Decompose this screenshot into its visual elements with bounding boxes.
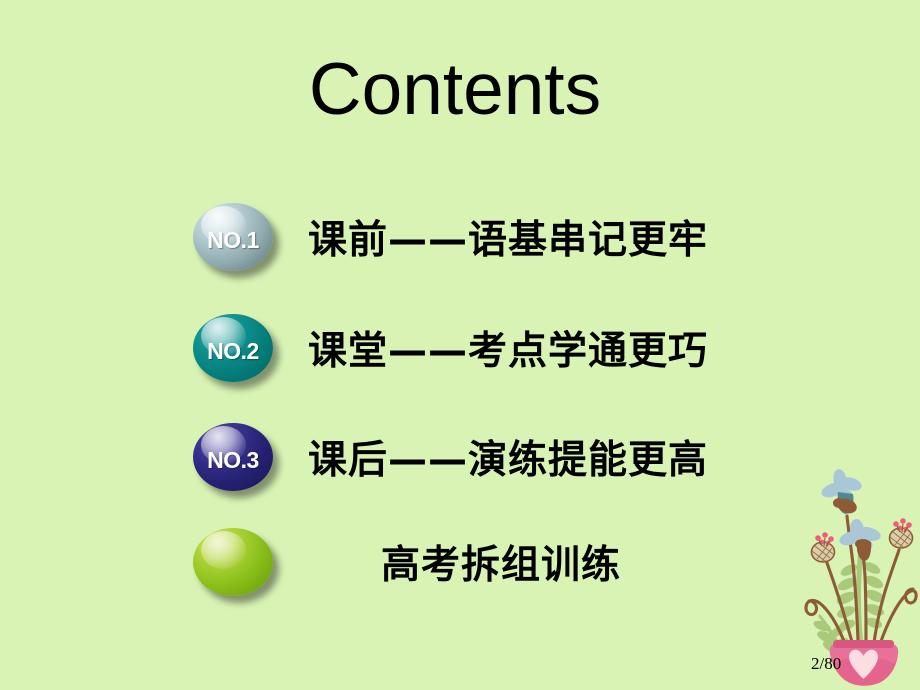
list-item-label-3: 课后——演练提能更高 xyxy=(308,423,708,491)
badge-no-2[interactable]: NO.2 xyxy=(193,314,273,382)
list-item-label-4: 高考拆组训练 xyxy=(381,528,621,596)
badge-no-1[interactable]: NO.1 xyxy=(193,203,273,271)
badge-label xyxy=(193,528,273,596)
slide-canvas: Contents NO.1 课前——语基串记更牢 NO.2 课堂——考点学通更巧… xyxy=(0,0,920,690)
badge-no-3[interactable]: NO.3 xyxy=(193,423,273,491)
page-number: 2/80 xyxy=(811,654,841,674)
list-item-label-2: 课堂——考点学通更巧 xyxy=(308,314,708,382)
list-item[interactable]: NO.1 课前——语基串记更牢 xyxy=(0,203,920,283)
list-item-label-1: 课前——语基串记更牢 xyxy=(308,203,708,271)
list-item[interactable]: NO.3 课后——演练提能更高 xyxy=(0,423,920,503)
badge-green[interactable] xyxy=(193,528,273,596)
badge-label: NO.2 xyxy=(193,314,273,382)
badge-label: NO.1 xyxy=(193,203,273,271)
badge-label: NO.3 xyxy=(193,423,273,491)
contents-list: NO.1 课前——语基串记更牢 NO.2 课堂——考点学通更巧 NO.3 课后—… xyxy=(0,0,920,690)
list-item[interactable]: 高考拆组训练 xyxy=(0,528,920,608)
list-item[interactable]: NO.2 课堂——考点学通更巧 xyxy=(0,314,920,394)
